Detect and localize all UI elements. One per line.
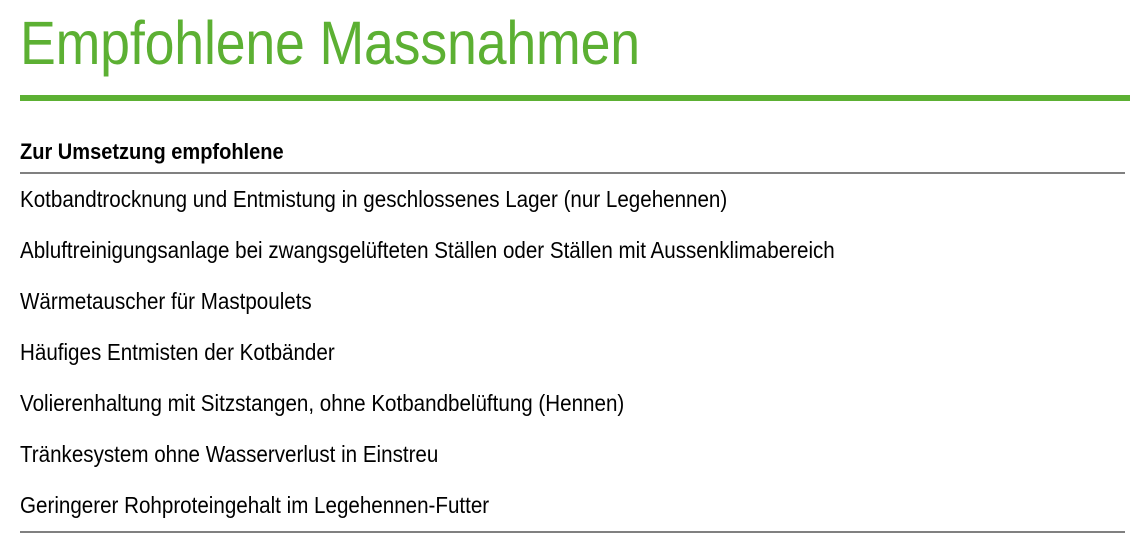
- measure-cell: Kotbandtrocknung und Entmistung in gesch…: [20, 173, 1125, 225]
- measure-label: Abluftreinigungsanlage bei zwangsgelüfte…: [20, 225, 835, 276]
- measure-cell: Geringerer Rohproteingehalt im Legehenne…: [20, 480, 1125, 532]
- table-row: Häufiges Entmisten der Kotbänder: [20, 327, 1125, 378]
- measure-label: Geringerer Rohproteingehalt im Legehenne…: [20, 480, 489, 531]
- table-row: Kotbandtrocknung und Entmistung in gesch…: [20, 173, 1125, 225]
- measure-cell: Tränkesystem ohne Wasserverlust in Einst…: [20, 429, 1125, 480]
- document-page: Empfohlene Massnahmen Zur Umsetzung empf…: [0, 0, 1148, 558]
- measure-cell: Wärmetauscher für Mastpoulets: [20, 276, 1125, 327]
- column-header-label: Zur Umsetzung empfohlene: [20, 131, 284, 172]
- measure-label: Tränkesystem ohne Wasserverlust in Einst…: [20, 429, 438, 480]
- measure-cell: Häufiges Entmisten der Kotbänder: [20, 327, 1125, 378]
- table-row: Tränkesystem ohne Wasserverlust in Einst…: [20, 429, 1125, 480]
- table-header: Zur Umsetzung empfohlene: [20, 131, 1125, 173]
- title-block: Empfohlene Massnahmen: [20, 6, 1130, 80]
- measure-cell: Abluftreinigungsanlage bei zwangsgelüfte…: [20, 225, 1125, 276]
- measure-label: Häufiges Entmisten der Kotbänder: [20, 327, 335, 378]
- recommended-measures-table: Zur Umsetzung empfohlene Kotbandtrocknun…: [20, 131, 1125, 533]
- measure-label: Volierenhaltung mit Sitzstangen, ohne Ko…: [20, 378, 624, 429]
- measure-label: Wärmetauscher für Mastpoulets: [20, 276, 312, 327]
- table-row: Geringerer Rohproteingehalt im Legehenne…: [20, 480, 1125, 532]
- table-body: Kotbandtrocknung und Entmistung in gesch…: [20, 173, 1125, 532]
- table-row: Abluftreinigungsanlage bei zwangsgelüfte…: [20, 225, 1125, 276]
- title-underline-rule: [20, 95, 1130, 101]
- table-header-row: Zur Umsetzung empfohlene: [20, 131, 1125, 173]
- column-header-recommended: Zur Umsetzung empfohlene: [20, 131, 1125, 173]
- measure-cell: Volierenhaltung mit Sitzstangen, ohne Ko…: [20, 378, 1125, 429]
- page-title: Empfohlene Massnahmen: [20, 6, 997, 80]
- table-row: Wärmetauscher für Mastpoulets: [20, 276, 1125, 327]
- table-row: Volierenhaltung mit Sitzstangen, ohne Ko…: [20, 378, 1125, 429]
- measure-label: Kotbandtrocknung und Entmistung in gesch…: [20, 174, 727, 225]
